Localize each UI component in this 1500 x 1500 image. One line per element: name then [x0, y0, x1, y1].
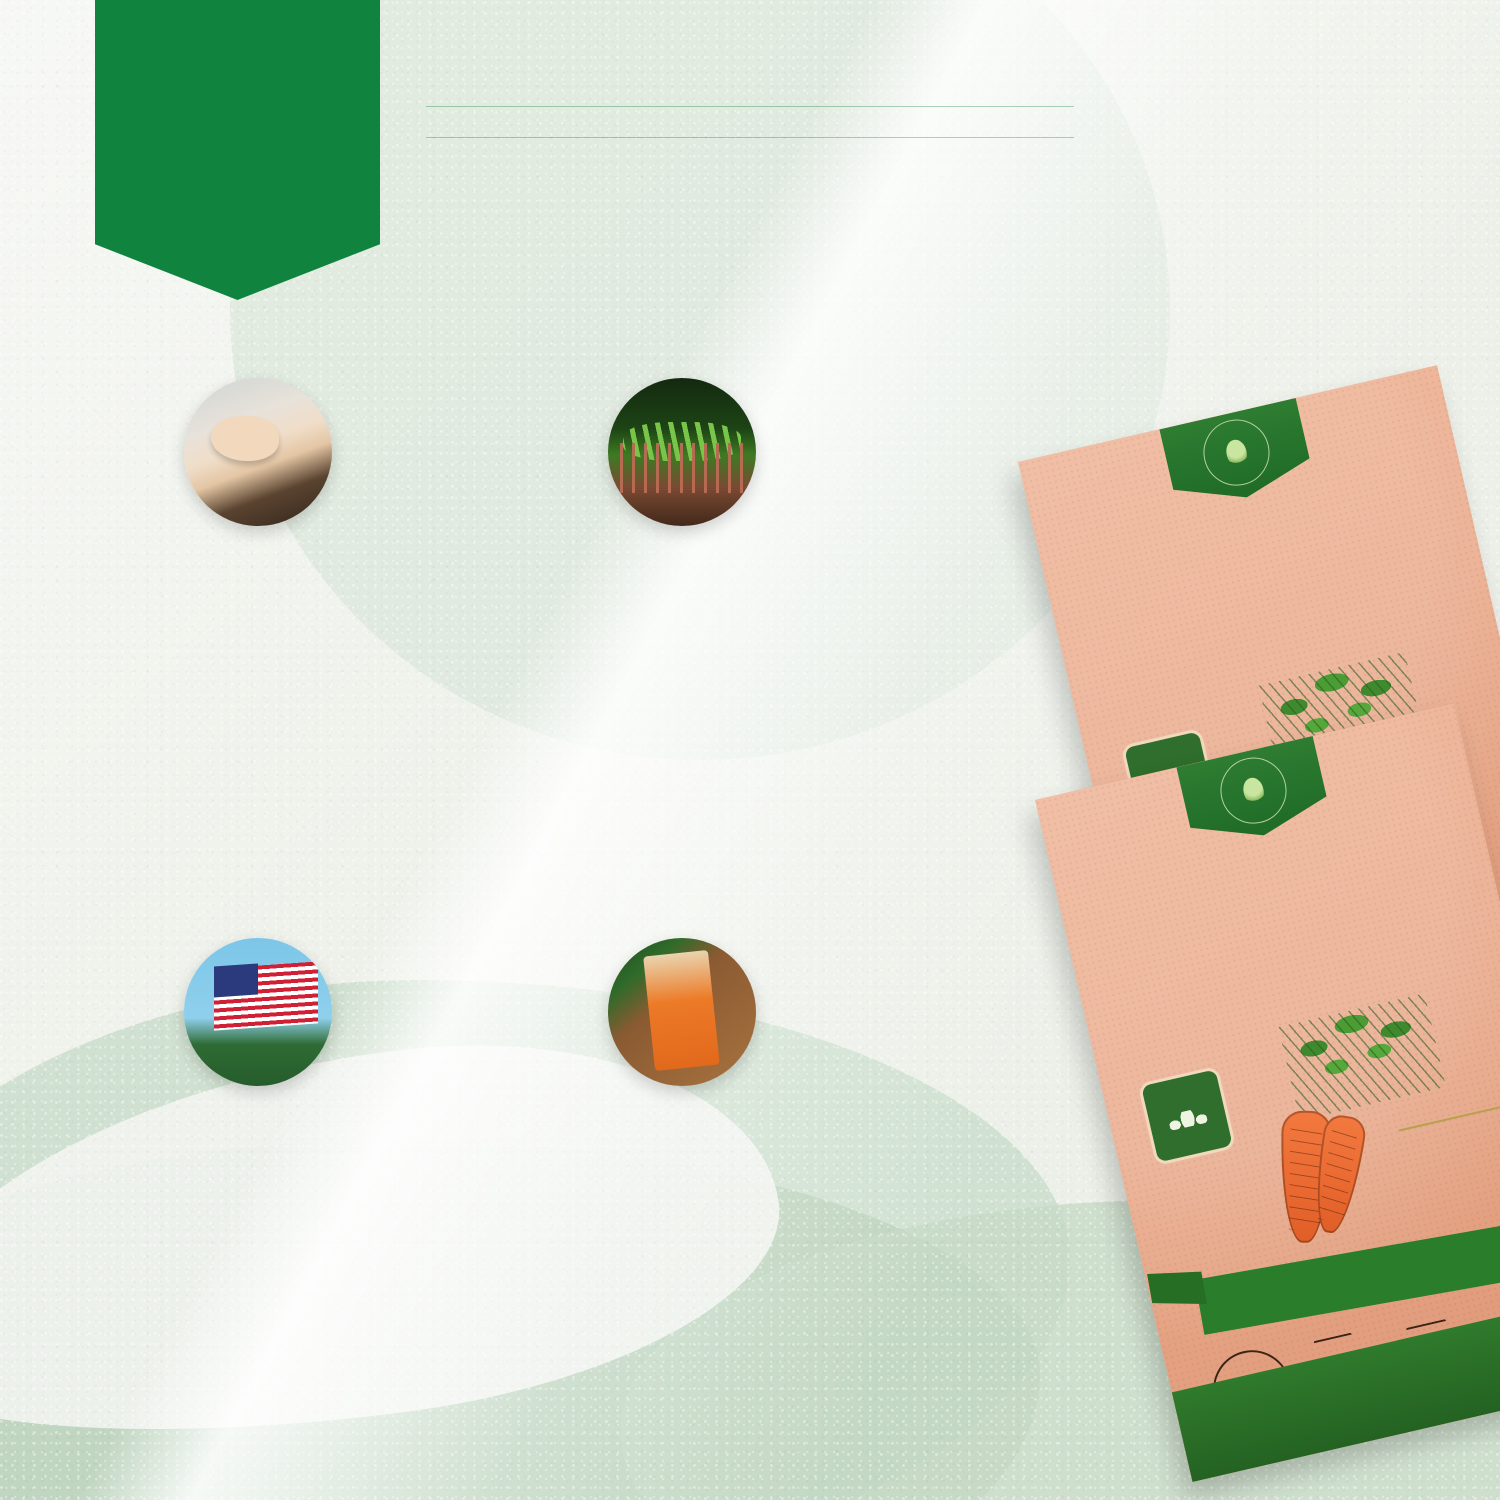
tree-logo-icon	[1197, 413, 1276, 492]
page-header	[420, 80, 1080, 138]
hand-holding-seeds-icon	[184, 378, 332, 526]
infographic-canvas: ✋ 🍃	[0, 0, 1500, 1500]
feature-high-germination-rate	[528, 378, 928, 552]
tree-logo-icon	[1214, 751, 1293, 830]
seed-leaves-icon	[1167, 1106, 1208, 1130]
seed-pack-in-hand-icon	[608, 938, 756, 1086]
seedlings-sprouting-icon	[608, 378, 756, 526]
feature-innovative-packing	[528, 938, 928, 1112]
feature-no-pesticides-us-sourced	[88, 938, 488, 1112]
page-subtitle	[420, 107, 1080, 137]
header-rule-bottom	[426, 137, 1074, 138]
feature-heirloom-non-gmo	[88, 378, 488, 552]
seed-packet-count-banner	[95, 0, 380, 300]
usa-flag-icon	[184, 938, 332, 1086]
